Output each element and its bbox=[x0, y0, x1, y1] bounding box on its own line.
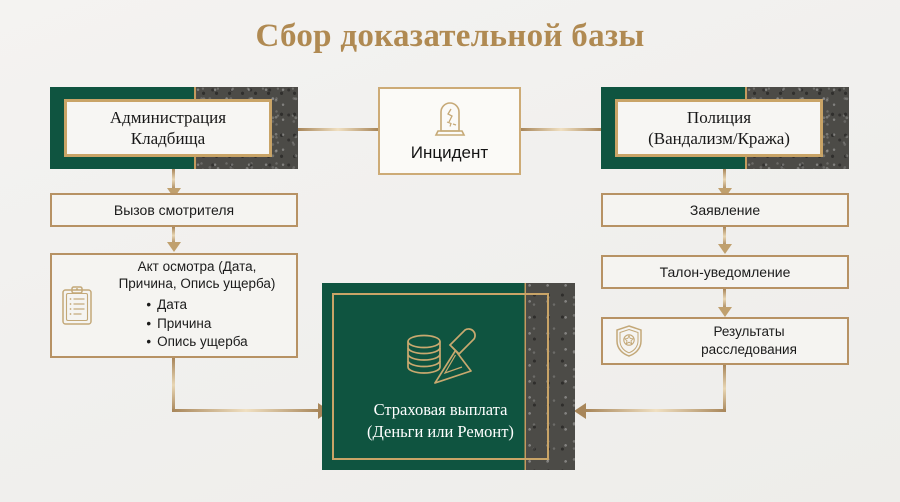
connector-incident-to-admin bbox=[298, 128, 378, 131]
node-cemetery-admin[interactable]: Администрация Кладбища bbox=[50, 87, 298, 169]
connector-coupon-to-results bbox=[723, 289, 726, 309]
node-inspection-act[interactable]: Акт осмотра (Дата, Причина, Опись ущерба… bbox=[50, 253, 298, 358]
list-item: Дата bbox=[146, 296, 247, 315]
keeper-call-label: Вызов смотрителя bbox=[114, 201, 234, 219]
node-cemetery-admin-inner: Администрация Кладбища bbox=[64, 99, 272, 157]
node-statement[interactable]: Заявление bbox=[601, 193, 849, 227]
node-investigation-results[interactable]: Результаты расследования bbox=[601, 317, 849, 365]
clipboard-icon bbox=[60, 285, 94, 327]
incident-label: Инцидент bbox=[411, 142, 488, 164]
node-payout[interactable]: Страховая выплата (Деньги или Ремонт) bbox=[322, 283, 575, 470]
connector-act-to-payout-vertical bbox=[172, 358, 175, 412]
inspection-act-body: Акт осмотра (Дата, Причина, Опись ущерба… bbox=[98, 258, 296, 353]
diagram-canvas: Сбор доказательной базы Администрация Кл… bbox=[0, 0, 900, 502]
arrowhead-coupon bbox=[718, 244, 732, 254]
connector-results-to-payout-vertical bbox=[723, 365, 726, 412]
cemetery-admin-line2: Кладбища bbox=[131, 129, 205, 148]
police-line2: (Вандализм/Кража) bbox=[648, 129, 790, 148]
arrowhead-results bbox=[718, 307, 732, 317]
notification-coupon-label: Талон-уведомление bbox=[660, 263, 791, 281]
cemetery-admin-line1: Администрация bbox=[110, 108, 226, 127]
act-heading-line1: Акт осмотра (Дата, bbox=[138, 259, 257, 274]
arrowhead-act bbox=[167, 242, 181, 252]
police-line1: Полиция bbox=[687, 108, 751, 127]
payout-line1: Страховая выплата bbox=[374, 400, 508, 419]
inspection-act-bullets: Дата Причина Опись ущерба bbox=[146, 296, 247, 352]
statement-label: Заявление bbox=[690, 201, 760, 219]
police-badge-icon bbox=[613, 324, 645, 358]
coins-and-trowel-icon bbox=[395, 321, 487, 399]
node-keeper-call[interactable]: Вызов смотрителя bbox=[50, 193, 298, 227]
broken-tombstone-icon bbox=[432, 98, 468, 138]
connector-police-to-statement bbox=[723, 169, 726, 190]
results-line1: Результаты bbox=[713, 324, 784, 339]
payout-text: Страховая выплата (Деньги или Ремонт) bbox=[367, 399, 514, 442]
arrowhead-payout-right bbox=[574, 403, 586, 419]
payout-line2: (Деньги или Ремонт) bbox=[367, 422, 514, 441]
results-line2: расследования bbox=[701, 342, 797, 357]
node-police[interactable]: Полиция (Вандализм/Кража) bbox=[601, 87, 849, 169]
inspection-act-heading: Акт осмотра (Дата, Причина, Опись ущерба… bbox=[98, 258, 296, 293]
act-heading-line2: Причина, Опись ущерба) bbox=[119, 276, 276, 291]
list-item: Причина bbox=[146, 315, 247, 334]
connector-act-to-payout-horizontal bbox=[172, 409, 320, 412]
connector-admin-to-keeper bbox=[172, 169, 175, 190]
node-notification-coupon[interactable]: Талон-уведомление bbox=[601, 255, 849, 289]
node-incident[interactable]: Инцидент bbox=[378, 87, 521, 175]
page-title: Сбор доказательной базы bbox=[0, 18, 900, 55]
list-item: Опись ущерба bbox=[146, 333, 247, 352]
connector-results-to-payout-horizontal bbox=[586, 409, 726, 412]
connector-incident-to-police bbox=[521, 128, 601, 131]
payout-frame: Страховая выплата (Деньги или Ремонт) bbox=[332, 293, 549, 460]
node-police-inner: Полиция (Вандализм/Кража) bbox=[615, 99, 823, 157]
investigation-results-body: Результаты расследования bbox=[651, 323, 847, 359]
